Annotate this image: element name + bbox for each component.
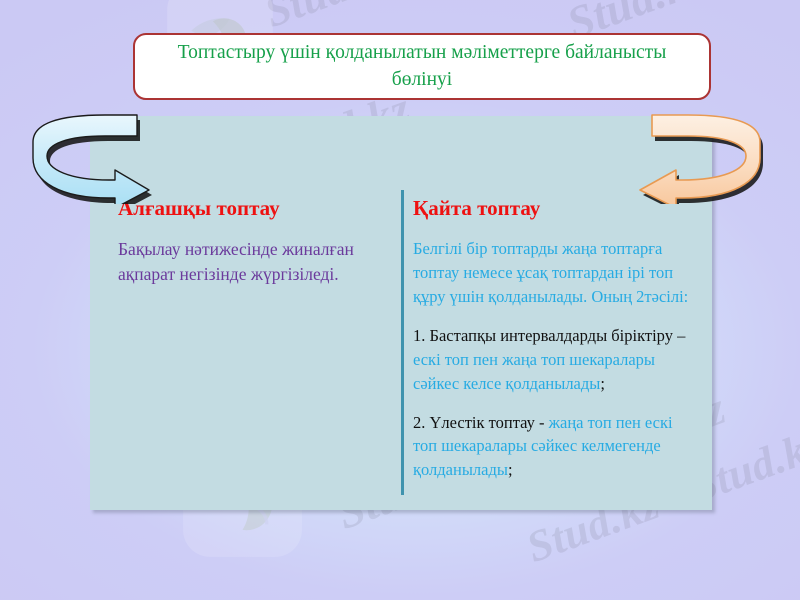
right-column-intro: Белгілі бір топтарды жаңа топтарға топта… [413,237,698,309]
list-item: 2. Үлестік топтау - жаңа топ пен ескі то… [413,411,698,483]
list-item-tail: ; [508,460,513,479]
slide-title-box: Топтастыру үшін қолданылатын мәліметтерг… [133,33,711,100]
right-column-heading: Қайта топтау [413,196,698,221]
list-item-tail: ; [600,374,605,393]
list-item: 1. Бастапқы интервалдарды біріктіру – ес… [413,324,698,396]
left-column-heading: Алғашқы топтау [118,196,386,221]
list-item-rest: ескі топ пен жаңа топ шекаралары сәйкес … [413,350,655,393]
list-item-lead: 1. Бастапқы интервалдарды біріктіру – [413,326,685,345]
page-title: Топтастыру үшін қолданылатын мәліметтерг… [135,40,709,93]
list-item-lead: 2. Үлестік топтау - [413,413,549,432]
column-divider [401,190,404,495]
column-initial-grouping: Алғашқы топтау Бақылау нәтижесінде жинал… [118,196,386,287]
column-regrouping: Қайта топтау Белгілі бір топтарды жаңа т… [413,196,698,497]
left-column-body: Бақылау нәтижесінде жиналған ақпарат нег… [118,237,386,287]
slide-canvas: Stud.kz - Stud.kz Stud.kz Stud.kz Stud.k… [0,0,800,600]
